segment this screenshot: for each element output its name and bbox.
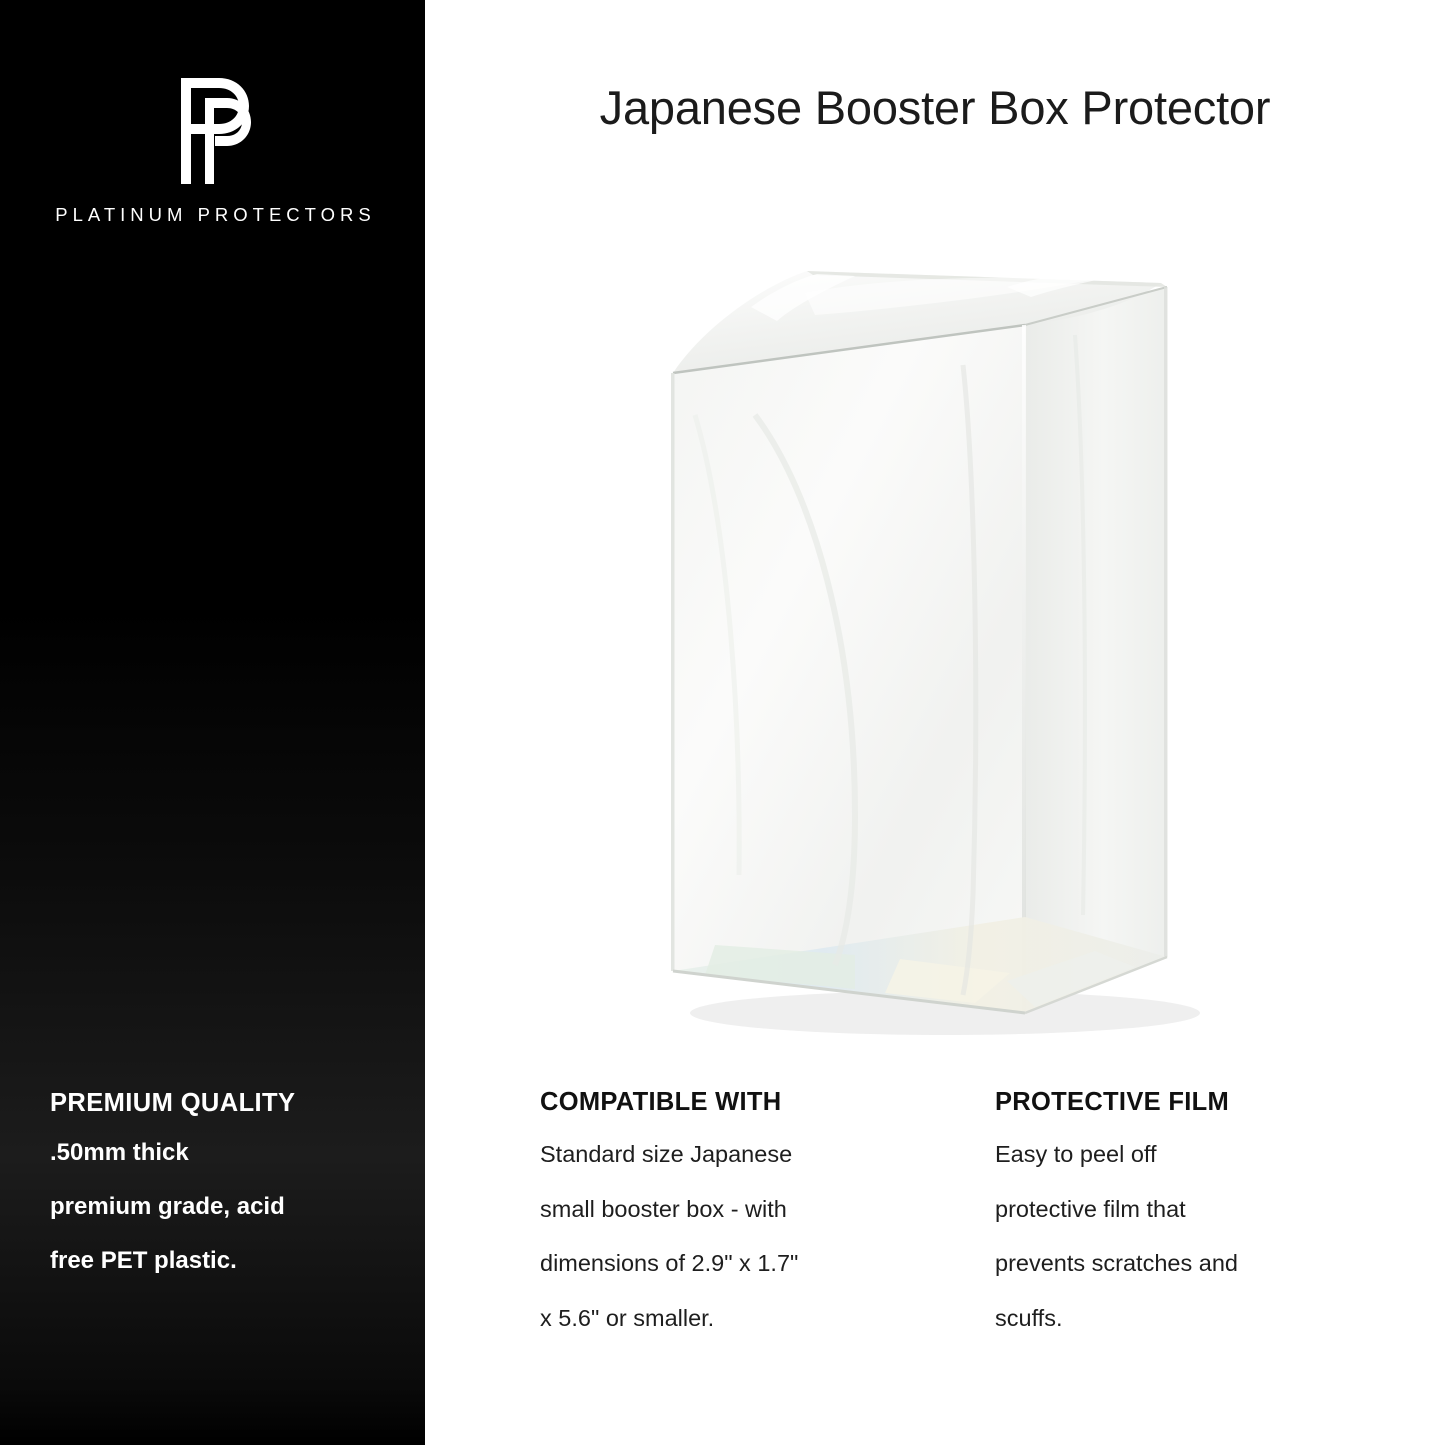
platinum-protectors-monogram-icon bbox=[153, 72, 273, 190]
premium-quality-line-3: free PET plastic. bbox=[50, 1249, 395, 1273]
feature-film-heading: PROTECTIVE FILM bbox=[995, 1088, 1415, 1117]
feature-protective-film: PROTECTIVE FILM Easy to peel off protect… bbox=[995, 1088, 1415, 1330]
premium-quality-heading: PREMIUM QUALITY bbox=[50, 1088, 395, 1119]
feature-film-line-4: scuffs. bbox=[995, 1307, 1415, 1331]
page-title: Japanese Booster Box Protector bbox=[425, 80, 1445, 135]
feature-film-line-3: prevents scratches and bbox=[995, 1252, 1415, 1276]
feature-compatible-with: COMPATIBLE WITH Standard size Japanese s… bbox=[540, 1088, 995, 1330]
feature-film-line-1: Easy to peel off bbox=[995, 1143, 1415, 1167]
feature-film-line-2: protective film that bbox=[995, 1198, 1415, 1222]
brand-panel: PLATINUM PROTECTORS PREMIUM QUALITY .50m… bbox=[0, 0, 425, 1445]
feature-compatible-line-1: Standard size Japanese bbox=[540, 1143, 995, 1167]
premium-quality-line-1: .50mm thick bbox=[50, 1141, 395, 1165]
brand-logo: PLATINUM PROTECTORS bbox=[0, 72, 425, 226]
feature-compatible-line-4: x 5.6" or smaller. bbox=[540, 1307, 995, 1331]
product-photo bbox=[555, 175, 1325, 1055]
feature-compatible-heading: COMPATIBLE WITH bbox=[540, 1088, 995, 1117]
product-photo-illustration bbox=[555, 175, 1325, 1055]
premium-quality-block: PREMIUM QUALITY .50mm thick premium grad… bbox=[50, 1088, 395, 1273]
feature-compatible-line-3: dimensions of 2.9" x 1.7" bbox=[540, 1252, 995, 1276]
product-panel: Japanese Booster Box Protector bbox=[425, 0, 1445, 1445]
feature-compatible-line-2: small booster box - with bbox=[540, 1198, 995, 1222]
premium-quality-line-2: premium grade, acid bbox=[50, 1195, 395, 1219]
feature-columns: COMPATIBLE WITH Standard size Japanese s… bbox=[540, 1088, 1440, 1330]
brand-name: PLATINUM PROTECTORS bbox=[0, 204, 425, 226]
